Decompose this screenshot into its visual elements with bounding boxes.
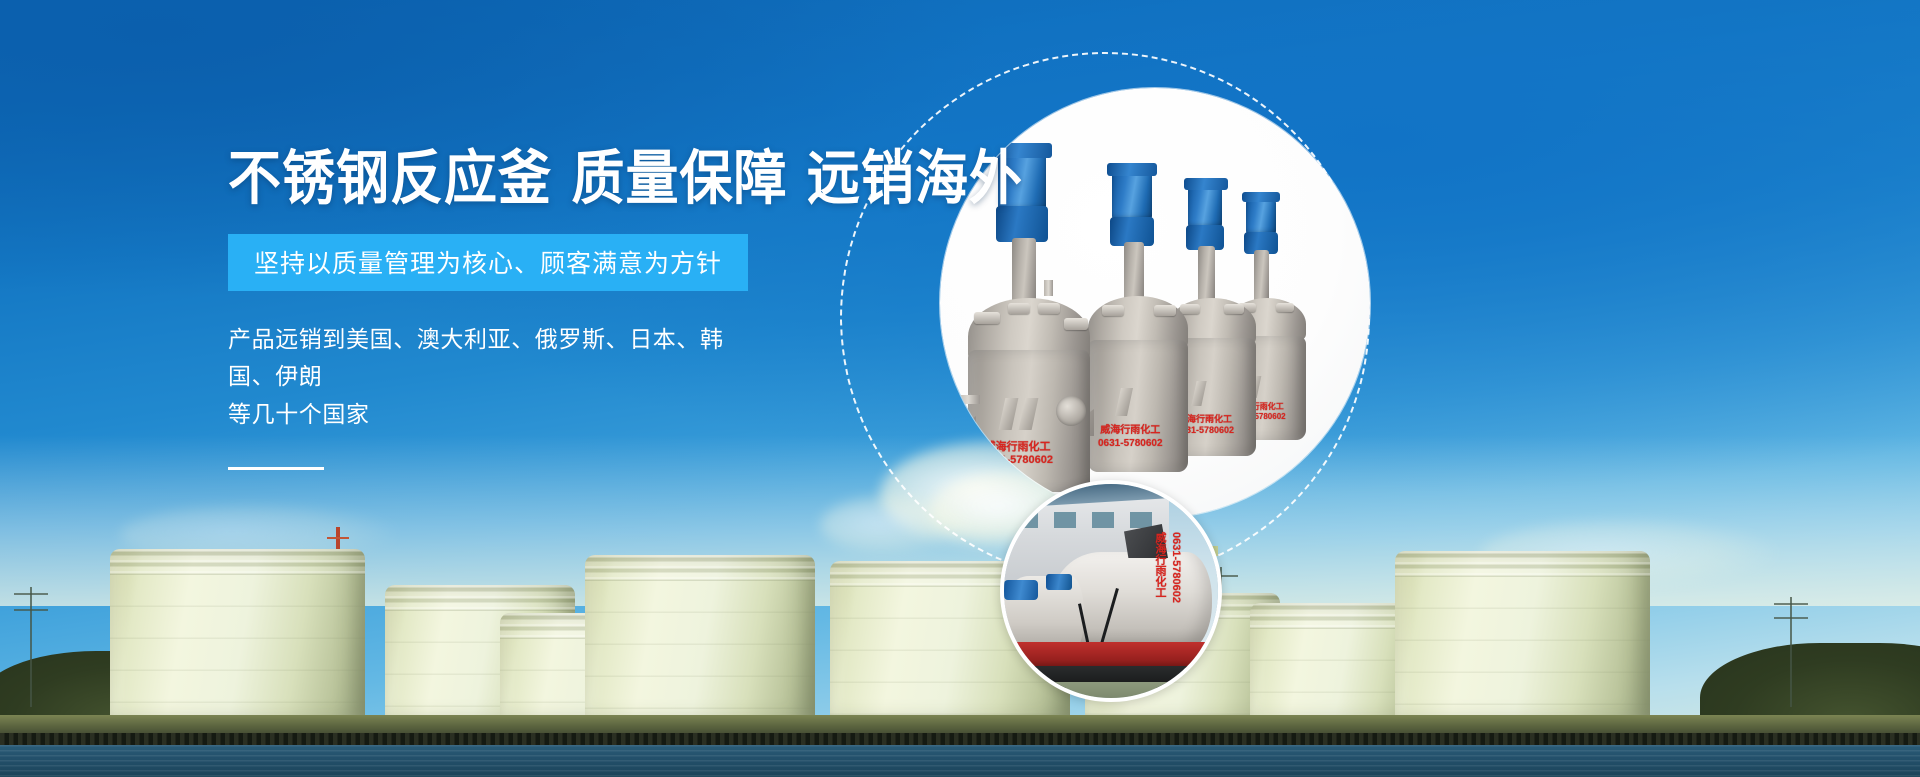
- storage-tank: [1395, 551, 1650, 721]
- waterfront: [0, 745, 1920, 777]
- treeline: [1700, 643, 1920, 721]
- photo-brand-text: 威海行雨化工: [1152, 532, 1168, 598]
- power-pylon: [1790, 597, 1792, 707]
- divider-rule: [228, 467, 324, 470]
- vessel-brand-text: 威海行雨化工: [984, 441, 1050, 453]
- vessel-motor: [1004, 580, 1038, 600]
- photo-phone-text: 0631-5780602: [1170, 532, 1182, 603]
- vessel-motor: [1046, 574, 1072, 590]
- vessel-phone-text: 0631-5780602: [1098, 438, 1163, 449]
- description-line-1: 产品远销到美国、澳大利亚、俄罗斯、日本、韩国、伊朗: [228, 326, 724, 389]
- vessel-brand-text: 威海行雨化工: [1100, 425, 1160, 436]
- hero-banner: 威海行雨化工 0631-5780602 威海行雨化工 0631: [0, 0, 1920, 777]
- description-text: 产品远销到美国、澳大利亚、俄罗斯、日本、韩国、伊朗 等几十个国家: [228, 321, 768, 433]
- banner-copy: 不锈钢反应釜 质量保障 远销海外 坚持以质量管理为核心、顾客满意为方针 产品远销…: [228, 148, 988, 470]
- subtitle-bar: 坚持以质量管理为核心、顾客满意为方针: [228, 234, 748, 291]
- storage-tank: [585, 555, 815, 721]
- vessel-phone-text: 0631-5780602: [982, 454, 1053, 466]
- power-pylon: [30, 587, 32, 707]
- page-title: 不锈钢反应釜 质量保障 远销海外: [228, 148, 988, 211]
- truck-bed: [1000, 642, 1222, 668]
- secondary-photo-circle: 威海行雨化工 0631-5780602: [1000, 480, 1222, 702]
- description-line-2: 等几十个国家: [228, 401, 370, 427]
- storage-tank: [110, 549, 365, 721]
